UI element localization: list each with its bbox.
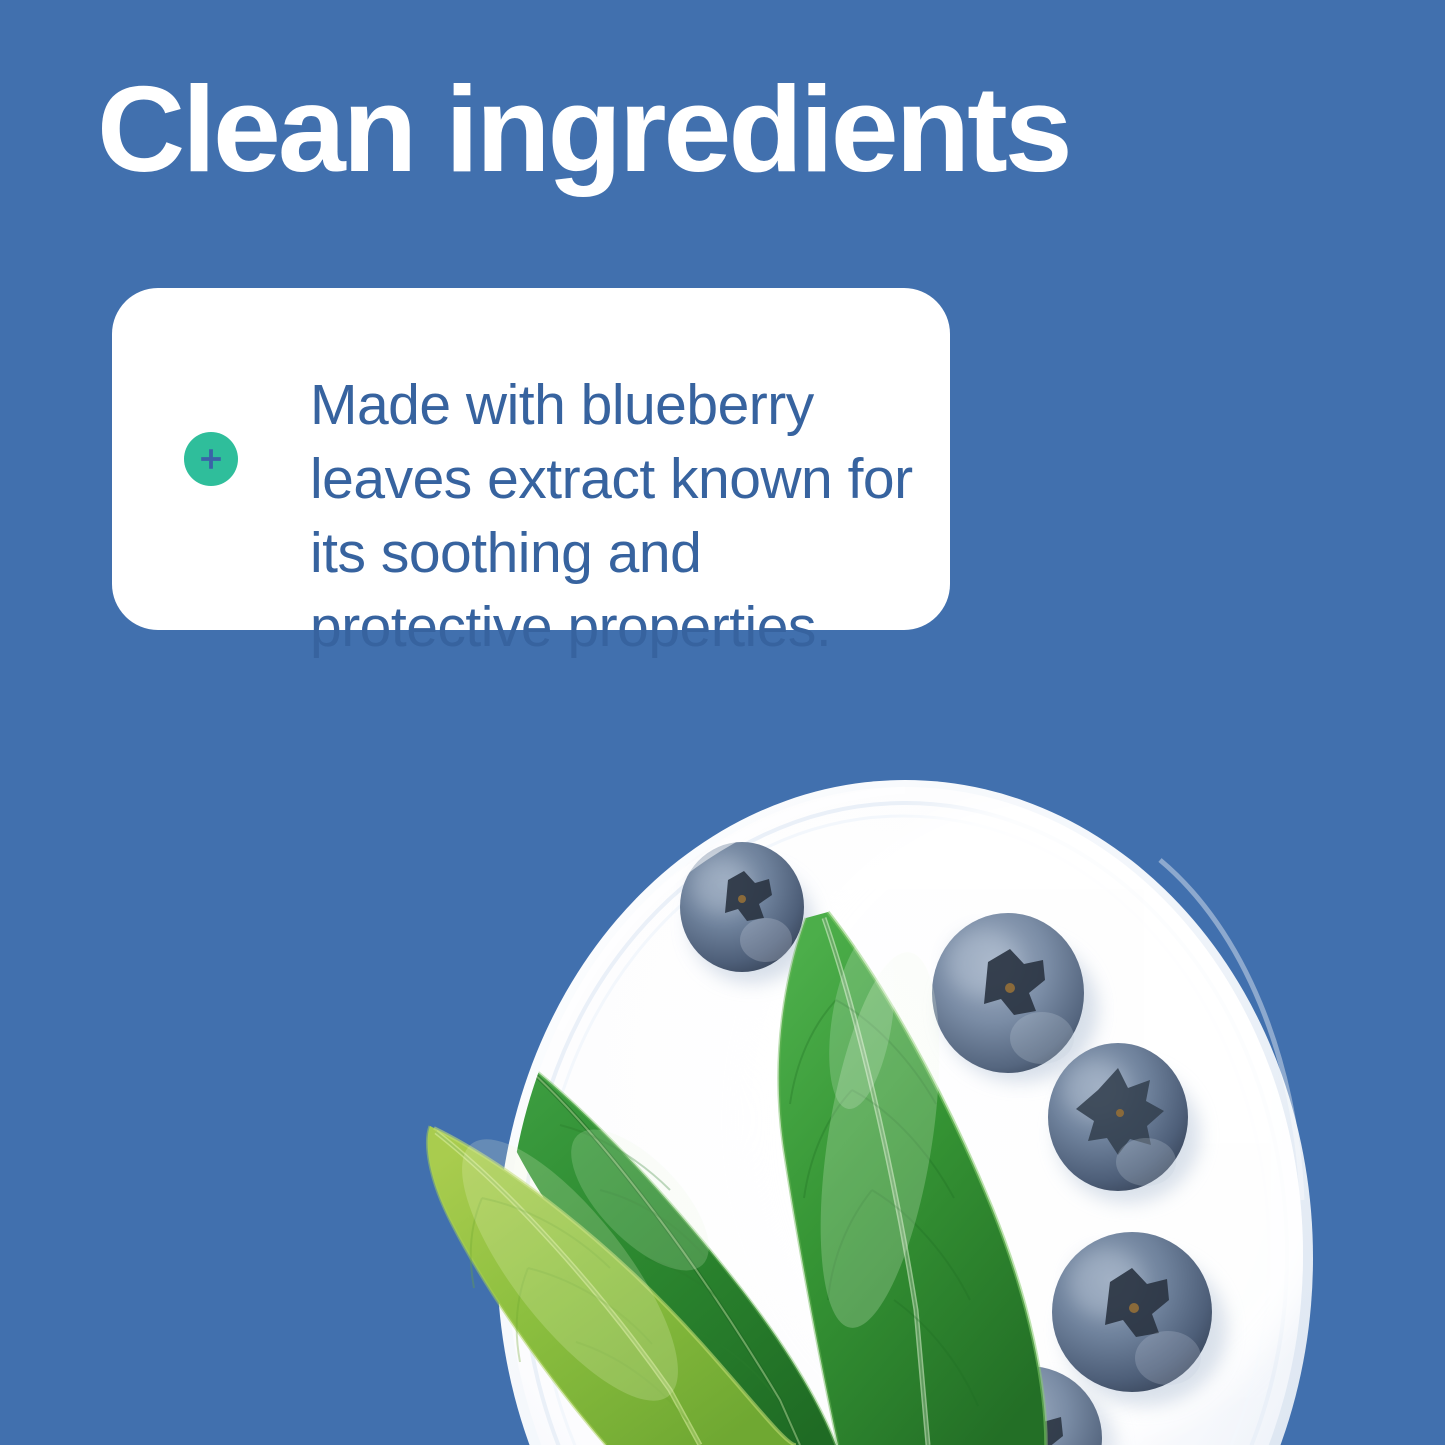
page-title: Clean ingredients	[97, 68, 1297, 190]
benefit-description: Made with blueberry leaves extract known…	[310, 368, 916, 664]
promo-banner: Clean ingredients Made with blueberry le…	[0, 0, 1445, 1445]
ingredient-photo	[0, 0, 1445, 1445]
plus-icon	[184, 432, 238, 486]
benefit-card: Made with blueberry leaves extract known…	[112, 288, 950, 630]
